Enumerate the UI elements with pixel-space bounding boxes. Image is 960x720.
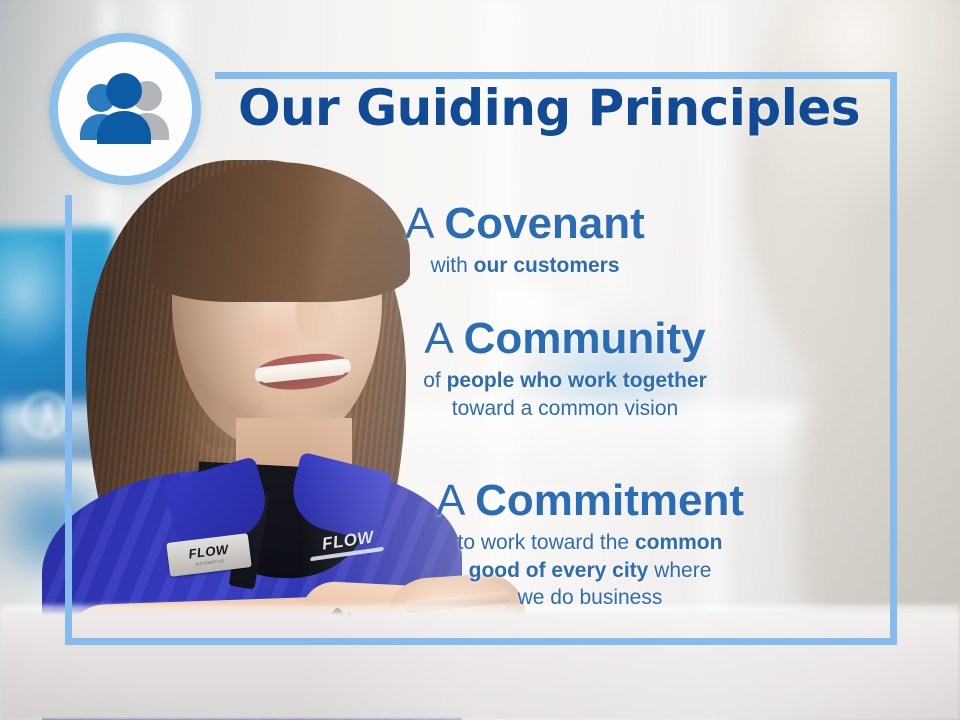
principle-sub-bold: our customers bbox=[474, 254, 620, 277]
principle-sub-line: to work toward the common bbox=[280, 529, 900, 556]
principle-sub-plain: with bbox=[430, 254, 473, 277]
people-group-icon-badge bbox=[49, 33, 201, 185]
principle-commitment: A Commitment to work toward the common g… bbox=[280, 476, 900, 611]
principle-noun: Commitment bbox=[475, 476, 744, 525]
principle-article: A bbox=[424, 314, 463, 363]
principle-subtext: of people who work together toward a com… bbox=[255, 367, 875, 422]
principle-sub-bold: people who work together bbox=[447, 369, 707, 392]
white-desk bbox=[0, 612, 960, 720]
principle-sub-bold: common bbox=[635, 531, 723, 554]
principle-subtext: with our customers bbox=[215, 252, 835, 279]
principle-article: A bbox=[405, 199, 444, 248]
page-title: Our Guiding Principles bbox=[215, 82, 883, 135]
people-group-icon bbox=[73, 72, 177, 146]
principle-subtext: to work toward the common good of every … bbox=[280, 529, 900, 611]
principle-sub-line: good of every city where bbox=[280, 557, 900, 584]
principle-sub-plain: where bbox=[648, 559, 711, 582]
principle-sub-plain: to work toward the bbox=[458, 531, 635, 554]
principle-article: A bbox=[436, 476, 475, 525]
principle-covenant: A Covenant with our customers bbox=[215, 199, 835, 280]
principle-noun: Covenant bbox=[444, 199, 644, 248]
principle-heading: A Commitment bbox=[280, 476, 900, 525]
principle-heading: A Community bbox=[255, 314, 875, 363]
principle-sub-bold: good of every city bbox=[469, 559, 649, 582]
principle-sub-line: we do business bbox=[280, 584, 900, 611]
principle-noun: Community bbox=[464, 314, 706, 363]
principle-heading: A Covenant bbox=[215, 199, 835, 248]
principle-sub-line: of people who work together bbox=[255, 367, 875, 394]
headline-block: Our Guiding Principles bbox=[215, 82, 883, 135]
banner-image: FLOW AUTOMOTIVE FLOW bbox=[0, 0, 960, 720]
principle-sub-line: toward a common vision bbox=[255, 395, 875, 422]
principle-sub-plain: of bbox=[423, 369, 446, 392]
principle-community: A Community of people who work together … bbox=[255, 314, 875, 422]
